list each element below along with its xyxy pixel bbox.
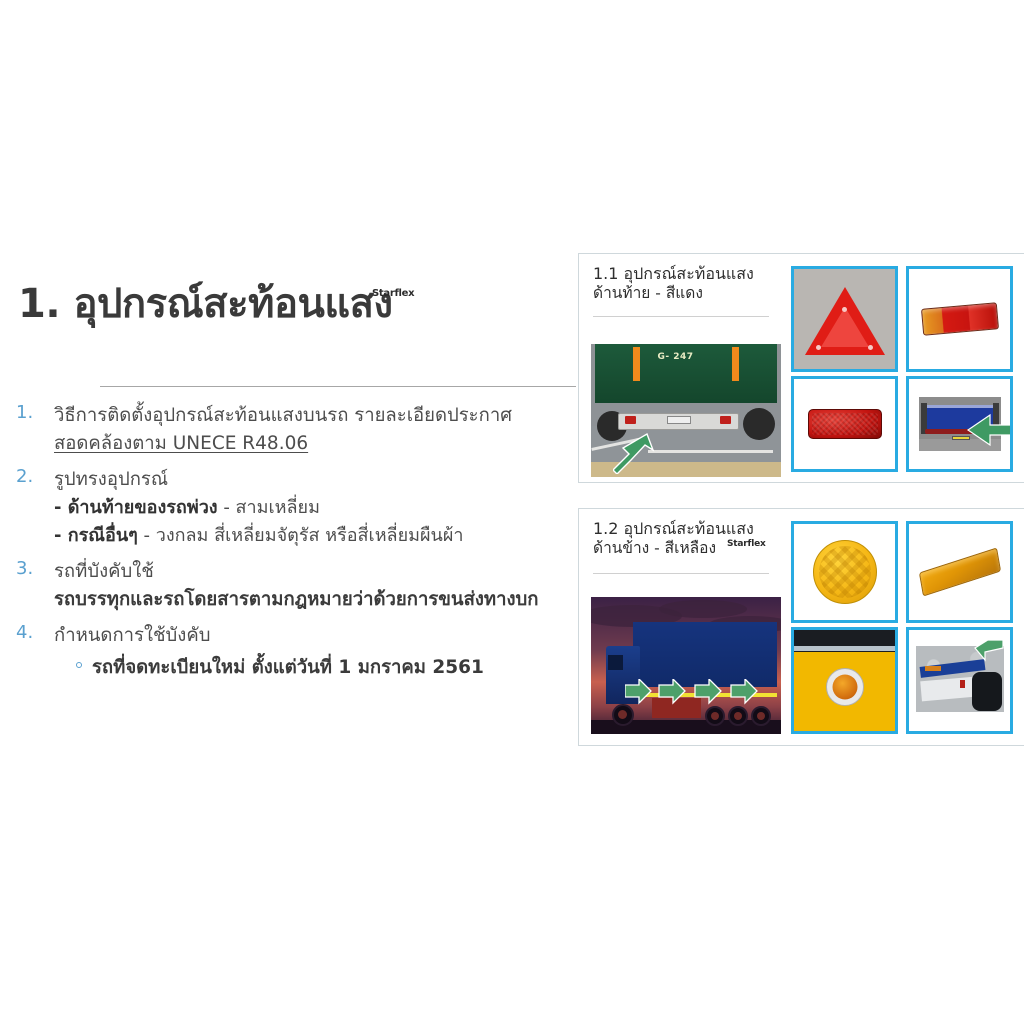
list-line: รถที่บังคับใช้: [54, 558, 578, 586]
watermark-title: Starflex: [372, 288, 414, 299]
red-reflector-lamp: [625, 416, 636, 424]
list-line-bold: รถบรรทุกและรถโดยสารตามกฎหมายว่าด้วยการขน…: [54, 586, 578, 614]
image-red-triangle: [794, 269, 895, 369]
list-body: วิธีการติดตั้งอุปกรณ์สะท้อนแสงบนรถ รายละ…: [54, 402, 578, 458]
cell-amber-round-reflector: [791, 521, 898, 623]
cell-red-rect-reflector: [791, 376, 898, 472]
red-reflector-lamp: [720, 416, 731, 424]
tail-lamp-shape: [920, 302, 998, 336]
list-item: 2. รูปทรงอุปกรณ์ - ด้านท้ายของรถพ่วง - ส…: [12, 466, 578, 550]
wheel: [728, 706, 748, 726]
image-blue-trailer-rear: [909, 379, 1010, 469]
licence-plate: [952, 436, 970, 440]
amber-side-marker: [925, 666, 941, 671]
red-lamp: [960, 680, 965, 688]
image-blue-chassis: [909, 630, 1010, 731]
cell-red-triangle-reflector: [791, 266, 898, 372]
list-number: 2.: [16, 466, 50, 487]
tyre: [972, 672, 1002, 710]
image-round-reflector: [794, 524, 895, 620]
red-reflective-bar: [925, 429, 996, 433]
panel-1-2: 1.2 อุปกรณ์สะท้อนแสง ด้านข้าง - สีเหลือง…: [578, 508, 1024, 746]
screw: [868, 345, 873, 350]
kerb: [591, 462, 781, 477]
sub-line: - ด้านท้ายของรถพ่วง - สามเหลี่ยม: [54, 494, 578, 522]
panel-heading-line1: 1.1 อุปกรณ์สะท้อนแสง: [593, 264, 793, 284]
list-line: กำหนดการใช้บังคับ: [54, 622, 578, 650]
slide-canvas: 1. อุปกรณ์สะท้อนแสง Starflex 1. วิธีการต…: [0, 0, 1024, 1024]
list-line-underlined: สอดคล้องตาม UNECE R48.06: [54, 430, 578, 458]
image-tail-lamp: [909, 269, 1010, 369]
panel-heading-divider: [593, 316, 769, 317]
list-body: รูปทรงอุปกรณ์ - ด้านท้ายของรถพ่วง - สามเ…: [54, 466, 578, 550]
content-list: 1. วิธีการติดตั้งอุปกรณ์สะท้อนแสงบนรถ รา…: [12, 402, 578, 684]
wheel: [743, 408, 775, 440]
panel-1-1-heading: 1.1 อุปกรณ์สะท้อนแสง ด้านท้าย - สีแดง: [593, 264, 793, 304]
list-line: วิธีการติดตั้งอุปกรณ์สะท้อนแสงบนรถ รายละ…: [54, 402, 578, 430]
triangle-inner-shape: [821, 307, 869, 347]
sub-bullet-item: รถที่จดทะเบียนใหม่ ตั้งแต่วันที่ 1 มกราค…: [76, 653, 578, 682]
blue-tarp: [924, 405, 996, 431]
cell-yellow-panel-lamp: [791, 627, 898, 734]
photo-blue-truck-sunset: [591, 597, 781, 734]
list-number: 3.: [16, 558, 50, 579]
panel-heading-line1: 1.2 อุปกรณ์สะท้อนแสง: [593, 519, 793, 539]
round-reflector-shape: [813, 540, 877, 604]
list-item: 3. รถที่บังคับใช้ รถบรรทุกและรถโดยสารตาม…: [12, 558, 578, 614]
page-title: 1. อุปกรณ์สะท้อนแสง: [18, 283, 393, 325]
yellow-reflective-tape: [629, 693, 777, 697]
chrome-strip: [794, 646, 895, 651]
trailer-number-label: G- 247: [658, 352, 694, 362]
image-rect-reflector: [794, 379, 895, 469]
hollow-circle-bullet-icon: [76, 662, 82, 668]
watermark-panel: Starflex: [727, 539, 766, 549]
orange-stripe: [633, 347, 640, 382]
amber-lamp: [832, 674, 857, 699]
photo-blue-chassis: [916, 646, 1004, 712]
list-item: 1. วิธีการติดตั้งอุปกรณ์สะท้อนแสงบนรถ รา…: [12, 402, 578, 458]
sub-line-rest: - วงกลม สี่เหลี่ยมจัตุรัส หรือสี่เหลี่ยม…: [138, 525, 464, 546]
photo-blue-trailer: [919, 397, 1001, 451]
list-number: 1.: [16, 402, 50, 423]
wheel: [751, 706, 771, 726]
wheel: [705, 706, 725, 726]
panel-1-1: 1.1 อุปกรณ์สะท้อนแสง ด้านท้าย - สีแดง G-…: [578, 253, 1024, 483]
cell-blue-trailer-rear-photo: [906, 376, 1013, 472]
orange-stripe: [732, 347, 739, 382]
cell-blue-trailer-side-photo: [906, 627, 1013, 734]
bar-reflector-shape: [918, 547, 1000, 596]
sub-line: - กรณีอื่นๆ - วงกลม สี่เหลี่ยมจัตุรัส หร…: [54, 522, 578, 550]
sub-bullet-text: รถที่จดทะเบียนใหม่ ตั้งแต่วันที่ 1 มกราค…: [92, 657, 484, 678]
sub-line-bold: - ด้านท้ายของรถพ่วง: [54, 497, 218, 518]
licence-plate: [667, 416, 691, 424]
list-number: 4.: [16, 622, 50, 643]
image-bar-reflector: [909, 524, 1010, 620]
panel-heading-line2: ด้านท้าย - สีแดง: [593, 284, 793, 304]
list-item: 4. กำหนดการใช้บังคับ รถที่จดทะเบียนใหม่ …: [12, 622, 578, 682]
panel-heading-divider: [593, 573, 769, 574]
cab-window: [608, 655, 623, 670]
sub-line-bold: - กรณีอื่นๆ: [54, 525, 138, 546]
red-side-panel: [652, 698, 701, 717]
trailer-box: [633, 622, 777, 688]
cloud: [659, 600, 746, 618]
ground: [919, 439, 1001, 451]
list-line: รูปทรงอุปกรณ์: [54, 466, 578, 494]
image-yellow-panel: [794, 630, 895, 731]
wheel: [612, 704, 634, 726]
list-body: รถที่บังคับใช้ รถบรรทุกและรถโดยสารตามกฎห…: [54, 558, 578, 614]
photo-green-lorry-rear: G- 247: [591, 344, 781, 477]
sub-line-rest: - สามเหลี่ยม: [218, 497, 320, 518]
rect-reflector-shape: [808, 409, 882, 439]
cell-amber-red-tail-lamp: [906, 266, 1013, 372]
cell-amber-bar-reflector: [906, 521, 1013, 623]
title-divider: [100, 386, 576, 387]
list-body: กำหนดการใช้บังคับ รถที่จดทะเบียนใหม่ ตั้…: [54, 622, 578, 682]
road-marking: [648, 450, 773, 453]
